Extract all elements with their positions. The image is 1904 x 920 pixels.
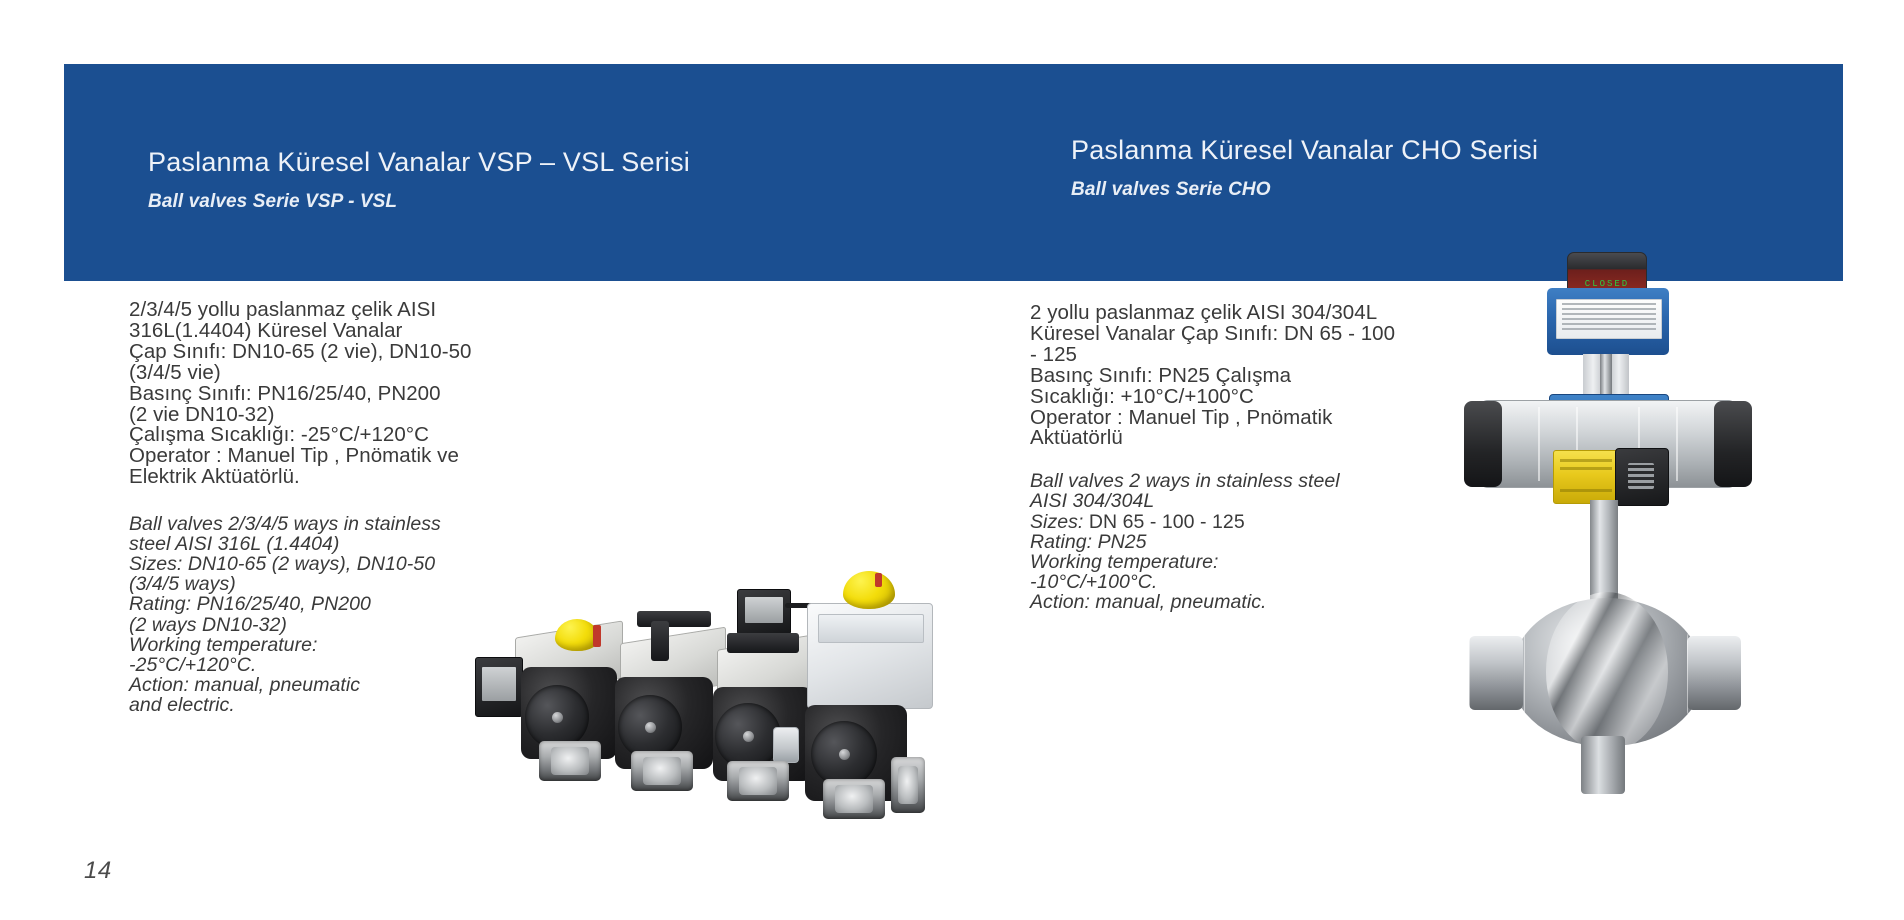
spec-line: (2 vie DN10-32): [129, 403, 274, 426]
valve-body: [1511, 598, 1703, 746]
spec-line: steel AISI 316L (1.4404): [129, 533, 339, 555]
spec-line: Basınç Sınıfı: PN25 Çalışma: [1030, 364, 1291, 387]
banner-title-right: Paslanma Küresel Vanalar CHO Serisi: [1071, 134, 1538, 168]
flange-right: [1687, 636, 1741, 710]
solenoid-coil: [1553, 450, 1619, 504]
left-spec-turkish: 2/3/4/5 yollu paslanmaz çelik AISI 316L(…: [129, 300, 519, 488]
product-photo-cho: CLOSED: [1455, 250, 1755, 890]
spec-line: (2 ways DN10-32): [129, 614, 287, 636]
spec-line: -25°C/+120°C.: [129, 654, 256, 676]
banner-section-vsp-vsl: Paslanma Küresel Vanalar VSP – VSL Seris…: [148, 146, 690, 213]
spec-line: -10°C/+100°C.: [1030, 571, 1157, 593]
cho-valve-illustration: CLOSED: [1455, 250, 1755, 890]
nameplate-label: [1556, 299, 1662, 339]
spec-line: Rating: PN16/25/40, PN200: [129, 593, 371, 615]
spec-line: Ball valves 2/3/4/5 ways in stainless: [129, 513, 441, 535]
spec-line: (3/4/5 vie): [129, 361, 221, 384]
valve-bank-illustration: [455, 545, 955, 865]
spec-line: Action: manual, pneumatic.: [1030, 591, 1267, 613]
spec-line: Sizes: DN10-65 (2 ways), DN10-50: [129, 553, 435, 575]
spec-line: and electric.: [129, 694, 235, 716]
spec-line: Working temperature:: [129, 634, 318, 656]
right-spec-turkish: 2 yollu paslanmaz çelik AISI 304/304L Kü…: [1030, 303, 1398, 449]
spec-line: Sıcaklığı: +10°C/+100°C: [1030, 385, 1254, 408]
spec-line: Working temperature:: [1030, 551, 1219, 573]
paragraph-spacer: [1030, 449, 1398, 471]
spec-line: 316L(1.4404) Küresel Vanalar: [129, 319, 402, 342]
spec-line: Operator : Manuel Tip , Pnömatik: [1030, 406, 1332, 429]
spec-line: 2 yollu paslanmaz çelik AISI 304/304L: [1030, 301, 1377, 324]
spec-line: Ball valves 2 ways in stainless steel: [1030, 470, 1340, 492]
spec-line: Elektrik Aktüatörlü.: [129, 465, 300, 488]
sizes-value: DN 65 - 100 - 125: [1083, 511, 1244, 533]
banner-subtitle-left: Ball valves Serie VSP - VSL: [148, 191, 690, 213]
header-banner: Paslanma Küresel Vanalar VSP – VSL Seris…: [64, 64, 1843, 281]
spec-line: (3/4/5 ways): [129, 573, 236, 595]
spec-line: Action: manual, pneumatic: [129, 674, 360, 696]
spec-line: Aktüatörlü: [1030, 426, 1123, 449]
spec-line: 2/3/4/5 yollu paslanmaz çelik AISI: [129, 298, 436, 321]
sizes-label: Sizes:: [1030, 511, 1083, 533]
banner-title-left: Paslanma Küresel Vanalar VSP – VSL Seris…: [148, 146, 690, 180]
limit-switch-box: [1547, 288, 1669, 355]
catalog-page: Paslanma Küresel Vanalar VSP – VSL Seris…: [0, 0, 1904, 920]
spec-line: AISI 304/304L: [1030, 490, 1154, 512]
bottom-drain-stub: [1581, 736, 1625, 794]
paragraph-spacer: [129, 488, 519, 514]
banner-subtitle-right: Ball valves Serie CHO: [1071, 179, 1538, 201]
banner-section-cho: Paslanma Küresel Vanalar CHO Serisi Ball…: [1071, 134, 1538, 201]
spec-line: - 125: [1030, 343, 1077, 366]
right-column-text: 2 yollu paslanmaz çelik AISI 304/304L Kü…: [1030, 303, 1398, 612]
spec-line: Rating: PN25: [1030, 531, 1147, 553]
spec-line: Çap Sınıfı: DN10-65 (2 vie), DN10-50: [129, 340, 471, 363]
coil-connector-plug: [1615, 448, 1669, 506]
spec-line: Çalışma Sıcaklığı: -25°C/+120°C: [129, 423, 429, 446]
page-number: 14: [84, 857, 112, 885]
spec-line: Operator : Manuel Tip , Pnömatik ve: [129, 444, 459, 467]
spec-line: Küresel Vanalar Çap Sınıfı: DN 65 - 100: [1030, 322, 1395, 345]
flange-left: [1469, 636, 1523, 710]
spec-line: Basınç Sınıfı: PN16/25/40, PN200: [129, 382, 441, 405]
right-spec-english: Ball valves 2 ways in stainless steel AI…: [1030, 471, 1398, 612]
product-photo-vsp-vsl: [455, 545, 955, 865]
